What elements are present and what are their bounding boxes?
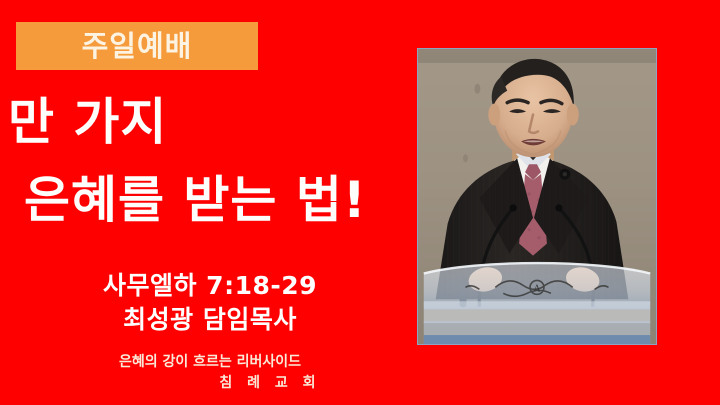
sermon-title: 만 가지 은혜를 받는 법!: [0, 92, 420, 230]
service-category-badge: 주일예배: [16, 22, 258, 70]
church-name-line-1: 은혜의 강이 흐르는 리버사이드: [0, 352, 420, 372]
service-category-label: 주일예배: [82, 32, 193, 61]
svg-text:A: A: [533, 284, 541, 294]
church-name: 은혜의 강이 흐르는 리버사이드 침 례 교 회: [0, 352, 420, 393]
sermon-info: 사무엘하 7:18-29 최성광 담임목사: [0, 270, 420, 336]
preacher-illustration: A: [418, 49, 656, 344]
preacher-photo-image: A: [418, 49, 656, 344]
church-name-line-2: 침 례 교 회: [0, 373, 420, 393]
speaker-name: 최성광 담임목사: [0, 304, 420, 336]
scripture-reference: 사무엘하 7:18-29: [0, 270, 420, 302]
sermon-title-line-1: 만 가지: [0, 92, 420, 152]
sermon-title-line-2: 은혜를 받는 법!: [0, 170, 420, 230]
sermon-title-slide: 주일예배 만 가지 은혜를 받는 법! 사무엘하 7:18-29 최성광 담임목…: [0, 0, 720, 405]
preacher-photo: A: [417, 48, 657, 345]
